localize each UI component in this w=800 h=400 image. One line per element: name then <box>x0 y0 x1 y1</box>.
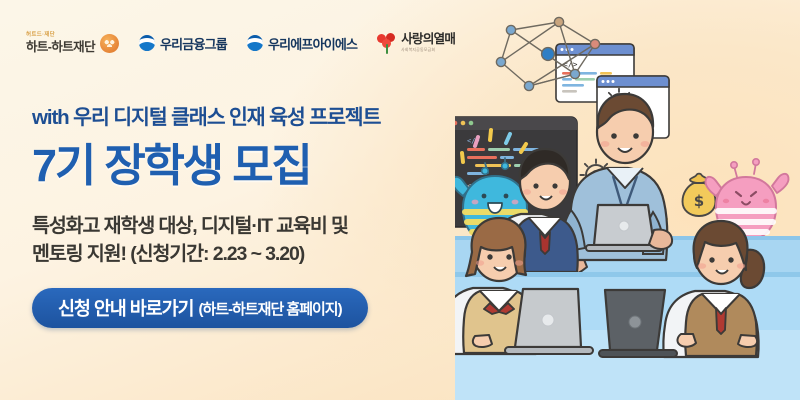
promo-banner: 허트드·재단 하트-하트재단 우리금융그룹 우리에프아이에스 사랑의열매 사회복… <box>0 0 800 400</box>
woori-wave-icon <box>247 35 263 51</box>
logo-heart-heart-foundation[interactable]: 허트드·재단 하트-하트재단 <box>26 26 119 60</box>
logo-community-chest[interactable]: 사랑의열매 사회복지공동모금회 <box>377 26 455 60</box>
copy-block: with 우리 디지털 클래스 인재 육성 프로젝트 7기 장학생 모집 특성화… <box>32 100 482 328</box>
digital-class-illustration: </> <box>455 0 800 400</box>
eyebrow-text: with 우리 디지털 클래스 인재 육성 프로젝트 <box>32 100 482 130</box>
fruit-of-love-icon <box>377 33 396 54</box>
logo-woori-financial-group[interactable]: 우리금융그룹 <box>139 26 227 60</box>
logo-woorifis-label: 우리에프아이에스 <box>268 34 357 53</box>
cta-label: 신청 안내 바로가기 <box>58 295 193 321</box>
logo-hh-label: 하트-하트재단 <box>26 41 95 54</box>
cta-sublabel: (하트-하트재단 홈페이지) <box>198 298 341 319</box>
heart-heart-circle-icon <box>100 34 119 53</box>
body-copy-line-2: 멘토링 지원! (신청기간: 2.23 ~ 3.20) <box>32 240 482 268</box>
logo-woori-label: 우리금융그룹 <box>160 34 227 53</box>
page-title: 7기 장학생 모집 <box>32 142 482 190</box>
body-copy: 특성화고 재학생 대상, 디지털·IT 교육비 및 멘토링 지원! (신청기간:… <box>32 212 482 269</box>
logo-love-sublabel: 사회복지공동모금회 <box>401 48 453 52</box>
logo-love-label: 사랑의열매 <box>401 33 455 46</box>
apply-guide-button[interactable]: 신청 안내 바로가기 (하트-하트재단 홈페이지) <box>32 288 368 328</box>
body-copy-line-1: 특성화고 재학생 대상, 디지털·IT 교육비 및 <box>32 212 482 240</box>
logo-hh-superscript: 허트드·재단 <box>26 33 55 39</box>
svg-text:$: $ <box>694 192 704 210</box>
logo-woori-fis[interactable]: 우리에프아이에스 <box>247 26 357 60</box>
sponsor-logo-bar: 허트드·재단 하트-하트재단 우리금융그룹 우리에프아이에스 사랑의열매 사회복… <box>26 26 455 60</box>
woori-wave-icon <box>139 35 155 51</box>
